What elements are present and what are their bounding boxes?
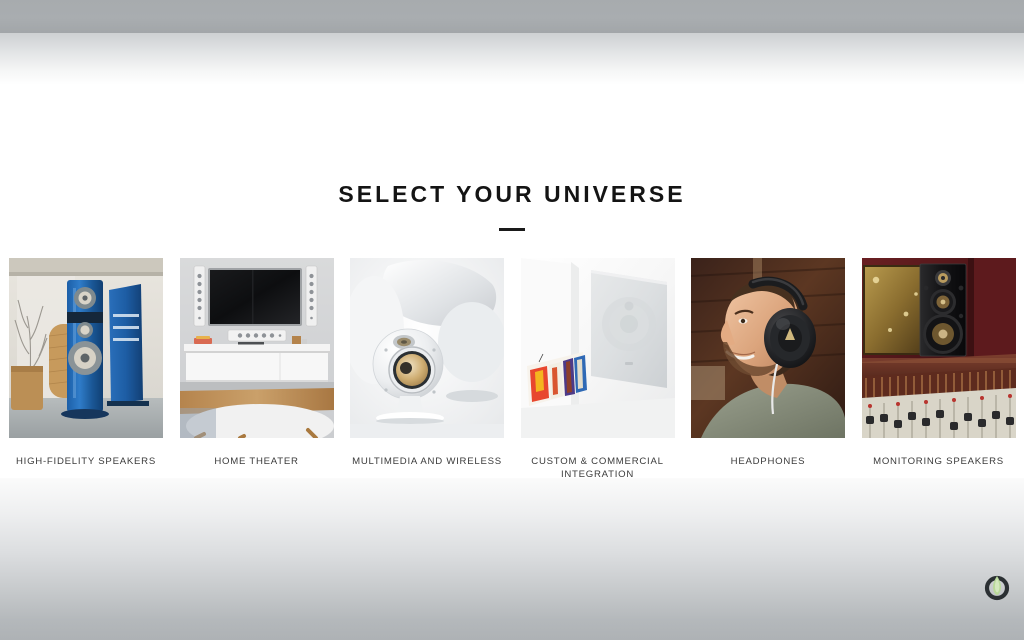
- top-fade-gradient: [0, 33, 1024, 85]
- page-root: SELECT YOUR UNIVERSE: [0, 0, 1024, 640]
- blue-tower-speakers-photo[interactable]: [9, 258, 163, 438]
- man-wearing-headphones-photo[interactable]: [691, 258, 845, 438]
- page-title: SELECT YOUR UNIVERSE: [0, 183, 1024, 206]
- studio-monitor-mixing-console-photo[interactable]: [862, 258, 1016, 438]
- category-label: MONITORING SPEAKERS: [862, 455, 1016, 468]
- category-tile-high-fidelity-speakers[interactable]: HIGH-FIDELITY SPEAKERS: [9, 258, 163, 481]
- bottom-fade-gradient: [0, 478, 1024, 640]
- category-label: MULTIMEDIA AND WIRELESS: [350, 455, 504, 468]
- category-tile-monitoring-speakers[interactable]: MONITORING SPEAKERS: [862, 258, 1016, 481]
- page-heading-block: SELECT YOUR UNIVERSE: [0, 183, 1024, 231]
- in-wall-speaker-panel-photo[interactable]: [521, 258, 675, 438]
- wall-mounted-tv-home-theater-photo[interactable]: [180, 258, 334, 438]
- category-tile-multimedia-and-wireless[interactable]: MULTIMEDIA AND WIRELESS: [350, 258, 504, 481]
- category-tile-home-theater[interactable]: HOME THEATER: [180, 258, 334, 481]
- brand-logo[interactable]: [982, 571, 1012, 601]
- category-label: HOME THEATER: [180, 455, 334, 468]
- category-label: HIGH-FIDELITY SPEAKERS: [9, 455, 163, 468]
- universe-category-grid: HIGH-FIDELITY SPEAKERS: [9, 258, 1015, 481]
- category-tile-headphones[interactable]: HEADPHONES: [691, 258, 845, 481]
- title-underline-rule: [499, 228, 525, 231]
- white-spherical-multimedia-speaker-photo[interactable]: [350, 258, 504, 438]
- top-gradient-band: [0, 0, 1024, 33]
- category-label: HEADPHONES: [691, 455, 845, 468]
- category-tile-custom-commercial-integration[interactable]: CUSTOM & COMMERCIAL INTEGRATION: [521, 258, 675, 481]
